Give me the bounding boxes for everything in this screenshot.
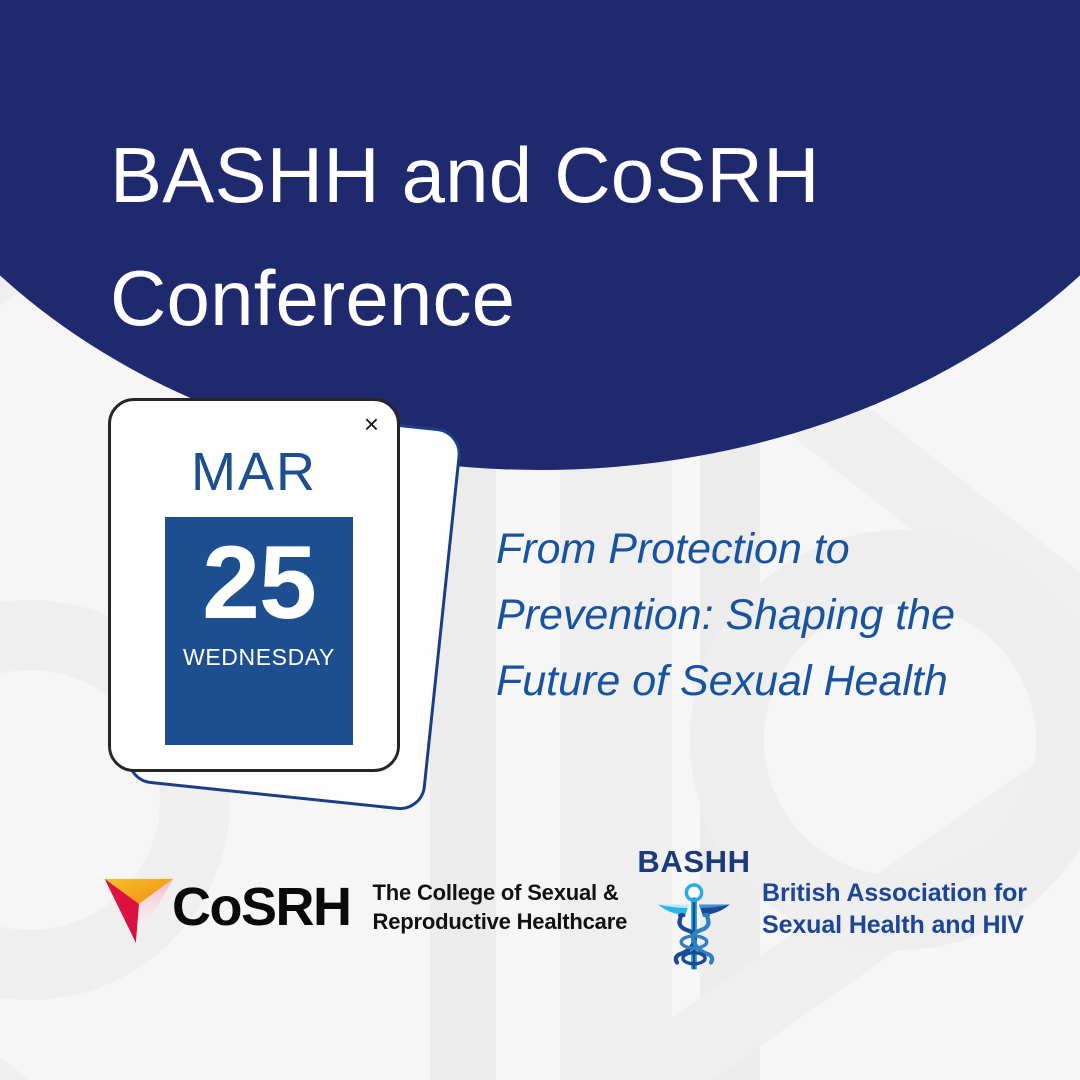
- cosrh-wordmark-srh: SRH: [241, 877, 351, 937]
- calendar-graphic: × MAR 25 WEDNESDAY: [100, 392, 460, 802]
- calendar-date-block: 25 WEDNESDAY: [165, 517, 353, 745]
- bashh-mark-group: BASHH: [640, 846, 748, 971]
- page-title: BASHH and CoSRH Conference: [110, 114, 870, 360]
- bashh-subtitle: British Association for Sexual Health an…: [762, 877, 1027, 941]
- calendar-day-name: WEDNESDAY: [183, 644, 335, 671]
- cosrh-wordmark: CoSRH: [172, 880, 351, 934]
- close-icon: ×: [364, 411, 379, 437]
- watermark-band: [0, 1010, 381, 1080]
- cosrh-wordmark-o: o: [210, 877, 242, 937]
- bashh-wordmark: BASHH: [637, 846, 750, 877]
- poster-canvas: BASHH and CoSRH Conference × MAR 25 WEDN…: [0, 0, 1080, 1080]
- caduceus-icon: [651, 879, 737, 971]
- cosrh-subtitle: The College of Sexual & Reproductive Hea…: [373, 878, 628, 937]
- calendar-front-card: × MAR 25 WEDNESDAY: [108, 398, 400, 772]
- event-tagline: From Protection to Prevention: Shaping t…: [496, 516, 1016, 715]
- calendar-month: MAR: [111, 441, 397, 503]
- calendar-day-number: 25: [202, 517, 316, 650]
- cosrh-wordmark-c: C: [172, 877, 210, 937]
- cosrh-triangle-icon: [100, 868, 178, 946]
- bashh-logo: BASHH: [640, 846, 1027, 971]
- cosrh-logo: CoSRH The College of Sexual & Reproducti…: [100, 868, 627, 946]
